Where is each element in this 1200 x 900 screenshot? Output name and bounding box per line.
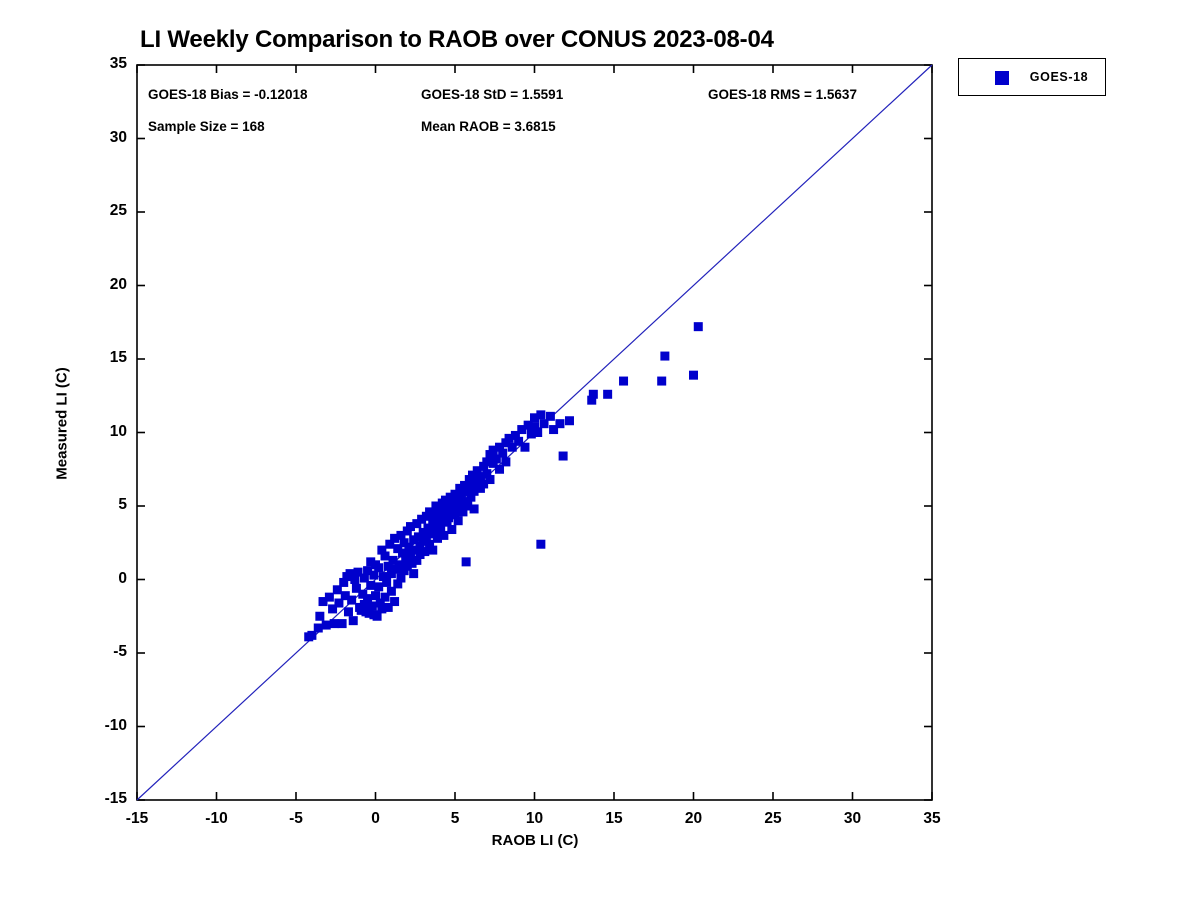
scatter-point xyxy=(536,540,545,549)
stat-std: GOES-18 StD = 1.5591 xyxy=(421,87,563,102)
x-tick-label: 0 xyxy=(341,810,411,828)
scatter-point xyxy=(447,525,456,534)
scatter-point xyxy=(322,621,331,630)
scatter-point xyxy=(347,596,356,605)
chart-title: LI Weekly Comparison to RAOB over CONUS … xyxy=(140,26,940,54)
scatter-point xyxy=(533,428,542,437)
scatter-point xyxy=(381,551,390,560)
y-tick-label: -5 xyxy=(57,643,127,661)
scatter-point xyxy=(657,377,666,386)
scatter-point xyxy=(520,443,529,452)
x-tick-label: -10 xyxy=(182,810,252,828)
x-tick-label: 15 xyxy=(579,810,649,828)
scatter-point xyxy=(470,504,479,513)
x-tick-label: 25 xyxy=(738,810,808,828)
scatter-point xyxy=(439,531,448,540)
plot-area xyxy=(0,0,1200,900)
x-tick-label: 30 xyxy=(818,810,888,828)
scatter-point xyxy=(536,410,545,419)
scatter-point xyxy=(330,619,339,628)
stat-bias: GOES-18 Bias = -0.12018 xyxy=(148,87,307,102)
scatter-point xyxy=(344,607,353,616)
chart-figure: LI Weekly Comparison to RAOB over CONUS … xyxy=(0,0,1200,900)
x-tick-label: 35 xyxy=(897,810,967,828)
scatter-point xyxy=(689,371,698,380)
scatter-point xyxy=(694,322,703,331)
scatter-point xyxy=(368,601,377,610)
scatter-point xyxy=(660,352,669,361)
scatter-point xyxy=(374,563,383,572)
scatter-point xyxy=(382,578,391,587)
x-tick-label: 20 xyxy=(659,810,729,828)
scatter-point xyxy=(462,557,471,566)
scatter-point xyxy=(546,412,555,421)
x-axis-label: RAOB LI (C) xyxy=(0,832,1070,849)
legend-swatch-goes-18 xyxy=(995,71,1009,85)
y-tick-label: -10 xyxy=(57,717,127,735)
scatter-point xyxy=(314,624,323,633)
scatter-point xyxy=(374,582,383,591)
scatter-point xyxy=(315,612,324,621)
scatter-point xyxy=(498,449,507,458)
scatter-point xyxy=(454,516,463,525)
y-tick-label: 35 xyxy=(57,55,127,73)
stat-mean-raob: Mean RAOB = 3.6815 xyxy=(421,119,556,134)
scatter-point xyxy=(390,597,399,606)
scatter-point xyxy=(555,419,564,428)
legend[interactable]: GOES-18 xyxy=(958,58,1106,96)
scatter-point xyxy=(325,593,334,602)
y-axis-label: Measured LI (C) xyxy=(54,344,71,504)
scatter-point xyxy=(589,390,598,399)
x-tick-label: 10 xyxy=(500,810,570,828)
y-tick-label: 20 xyxy=(57,276,127,294)
scatter-point xyxy=(428,546,437,555)
scatter-point xyxy=(565,416,574,425)
scatter-point xyxy=(349,616,358,625)
scatter-points xyxy=(304,322,703,641)
scatter-point xyxy=(366,581,375,590)
stat-sample-size: Sample Size = 168 xyxy=(148,119,265,134)
legend-label-goes-18: GOES-18 xyxy=(1019,70,1099,84)
scatter-point xyxy=(603,390,612,399)
x-tick-label: 5 xyxy=(420,810,490,828)
scatter-point xyxy=(619,377,628,386)
scatter-point xyxy=(485,475,494,484)
y-tick-label: 30 xyxy=(57,129,127,147)
stat-rms: GOES-18 RMS = 1.5637 xyxy=(708,87,857,102)
scatter-point xyxy=(338,619,347,628)
y-tick-label: 0 xyxy=(57,570,127,588)
x-tick-label: -15 xyxy=(102,810,172,828)
scatter-point xyxy=(409,569,418,578)
scatter-point xyxy=(559,452,568,461)
x-tick-label: -5 xyxy=(261,810,331,828)
y-tick-label: 25 xyxy=(57,202,127,220)
scatter-point xyxy=(501,457,510,466)
y-tick-label: -15 xyxy=(57,790,127,808)
